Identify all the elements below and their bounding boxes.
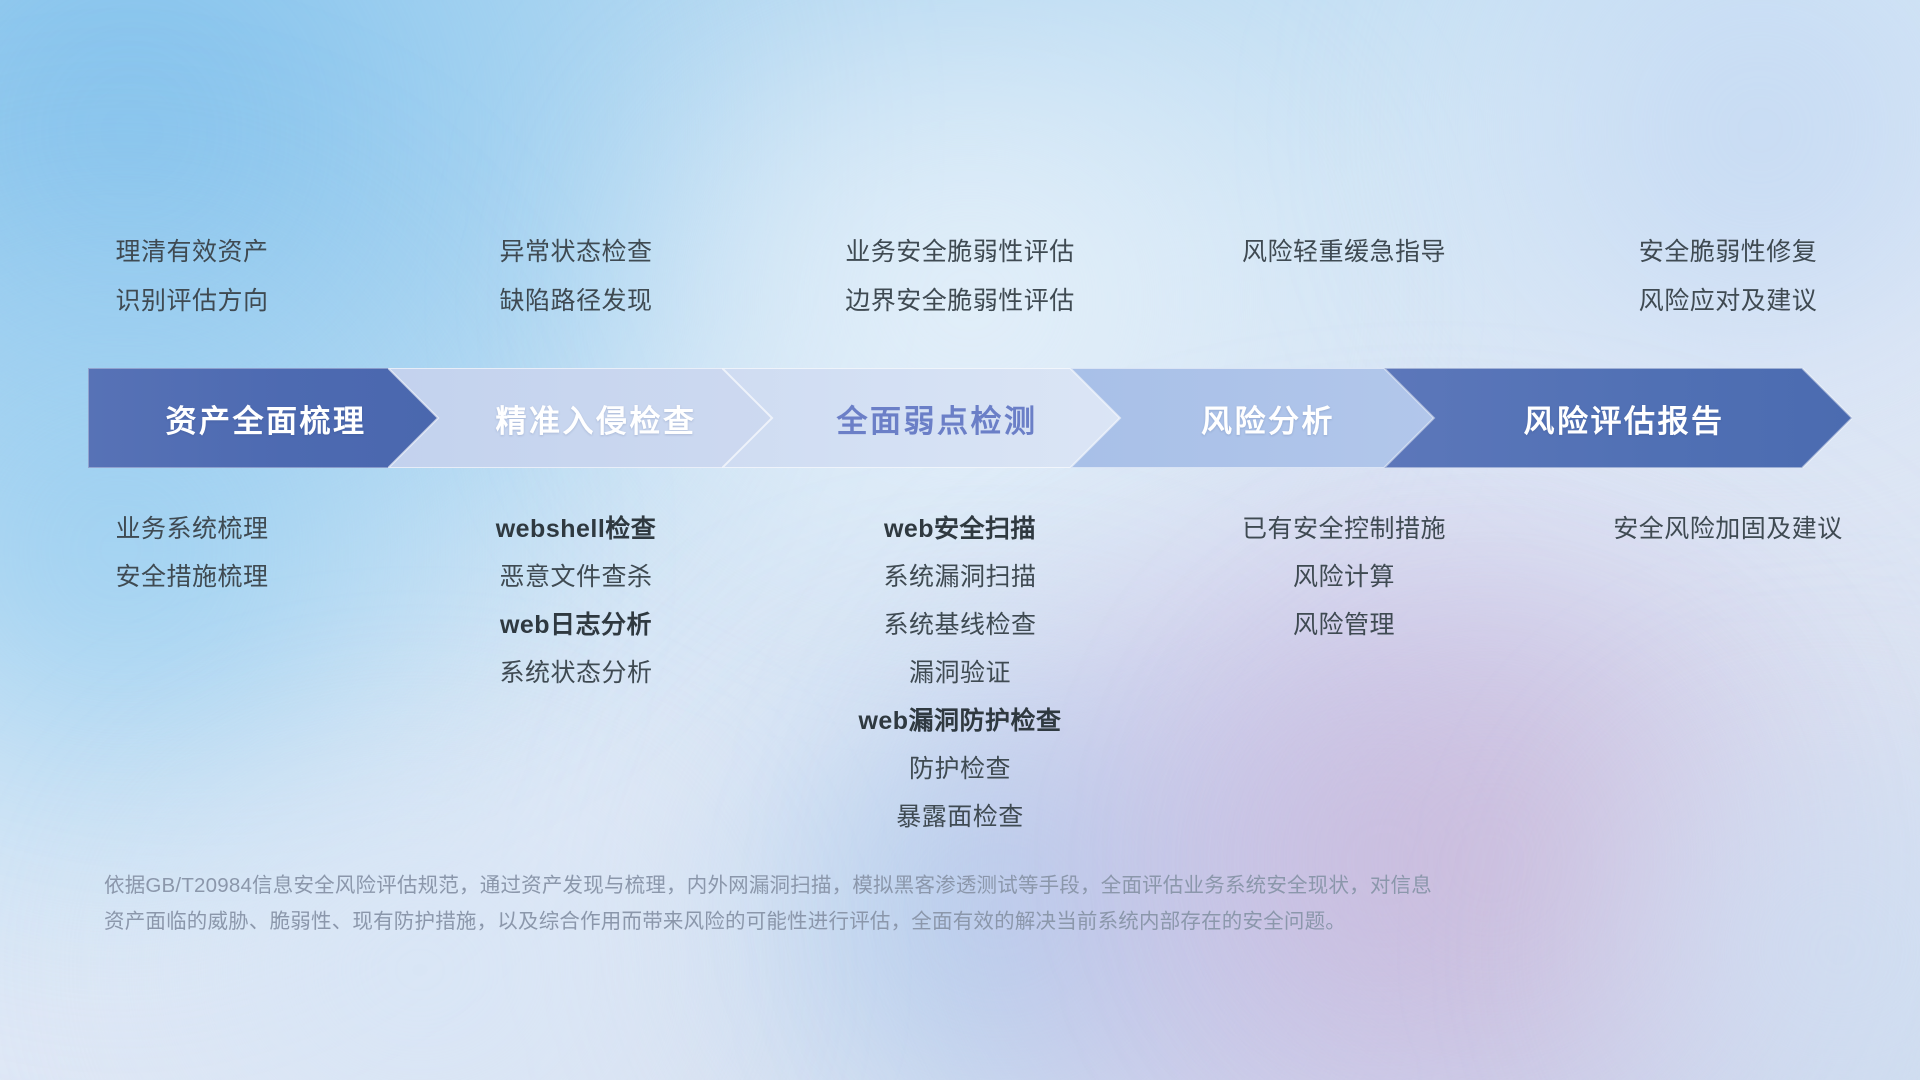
footer-line-2: 资产面临的威胁、脆弱性、现有防护措施，以及综合作用而带来风险的可能性进行评估，全… <box>104 904 1604 940</box>
top-item: 安全脆弱性修复 <box>1639 228 1818 277</box>
bottom-items-row: 业务系统梳理 安全措施梳理 webshell检查 恶意文件查杀 web日志分析 … <box>0 505 1920 815</box>
bottom-item: 漏洞验证 <box>909 649 1011 697</box>
bottom-item: 风险管理 <box>1293 601 1395 649</box>
top-item: 风险应对及建议 <box>1639 277 1818 326</box>
bottom-item: 安全措施梳理 <box>115 553 268 601</box>
bottom-item: 恶意文件查杀 <box>499 553 652 601</box>
top-item: 理清有效资产 <box>115 228 268 277</box>
top-item: 异常状态检查 <box>499 228 652 277</box>
stage-bottom-items-5: 安全风险加固及建议 <box>1536 505 1920 553</box>
bottom-item: web安全扫描 <box>884 505 1036 553</box>
stage-title: 精准入侵检查 <box>496 396 697 441</box>
stage-bottom-items-2: webshell检查 恶意文件查杀 web日志分析 系统状态分析 <box>384 505 768 697</box>
top-item: 业务安全脆弱性评估 <box>845 228 1075 277</box>
bottom-item: 系统基线检查 <box>883 601 1036 649</box>
stage-top-items-2: 异常状态检查 缺陷路径发现 <box>384 228 768 338</box>
bottom-item: 系统状态分析 <box>499 649 652 697</box>
stage-top-items-1: 理清有效资产 识别评估方向 <box>0 228 384 338</box>
footer-description: 依据GB/T20984信息安全风险评估规范，通过资产发现与梳理，内外网漏洞扫描，… <box>104 868 1604 940</box>
bottom-item: webshell检查 <box>496 505 657 553</box>
bottom-item: 暴露面检查 <box>896 793 1024 841</box>
top-item: 缺陷路径发现 <box>499 277 652 326</box>
bottom-item: web日志分析 <box>500 601 652 649</box>
bottom-item: 已有安全控制措施 <box>1242 505 1446 553</box>
stage-chevron-2[interactable]: 精准入侵检查 <box>388 368 778 468</box>
stage-top-items-4: 风险轻重缓急指导 <box>1152 228 1536 338</box>
bottom-item: web漏洞防护检查 <box>858 697 1061 745</box>
top-item: 边界安全脆弱性评估 <box>845 277 1075 326</box>
top-items-row: 理清有效资产 识别评估方向 异常状态检查 缺陷路径发现 业务安全脆弱性评估 边界… <box>0 228 1920 338</box>
stage-bottom-items-4: 已有安全控制措施 风险计算 风险管理 <box>1152 505 1536 649</box>
bottom-item: 风险计算 <box>1293 553 1395 601</box>
stage-title: 风险评估报告 <box>1524 396 1725 441</box>
bottom-item: 系统漏洞扫描 <box>883 553 1036 601</box>
bottom-item: 业务系统梳理 <box>115 505 268 553</box>
stage-chevron-5[interactable]: 风险评估报告 <box>1384 368 1852 468</box>
top-item: 识别评估方向 <box>115 277 268 326</box>
stage-title: 资产全面梳理 <box>166 396 367 441</box>
stage-chevron-3[interactable]: 全面弱点检测 <box>722 368 1126 468</box>
footer-line-1: 依据GB/T20984信息安全风险评估规范，通过资产发现与梳理，内外网漏洞扫描，… <box>104 868 1604 904</box>
stage-title: 风险分析 <box>1201 396 1335 441</box>
stage-top-items-5: 安全脆弱性修复 风险应对及建议 <box>1536 228 1920 338</box>
stage-bottom-items-3: web安全扫描 系统漏洞扫描 系统基线检查 漏洞验证 web漏洞防护检查 防护检… <box>768 505 1152 841</box>
stage-bottom-items-1: 业务系统梳理 安全措施梳理 <box>0 505 384 601</box>
bottom-item: 安全风险加固及建议 <box>1613 505 1843 553</box>
bottom-item: 防护检查 <box>909 745 1011 793</box>
top-item: 风险轻重缓急指导 <box>1242 228 1446 277</box>
stage-title: 全面弱点检测 <box>837 396 1038 441</box>
stage-top-items-3: 业务安全脆弱性评估 边界安全脆弱性评估 <box>768 228 1152 338</box>
process-chevron-banner: 资产全面梳理 精准入侵检查 <box>88 368 1852 468</box>
